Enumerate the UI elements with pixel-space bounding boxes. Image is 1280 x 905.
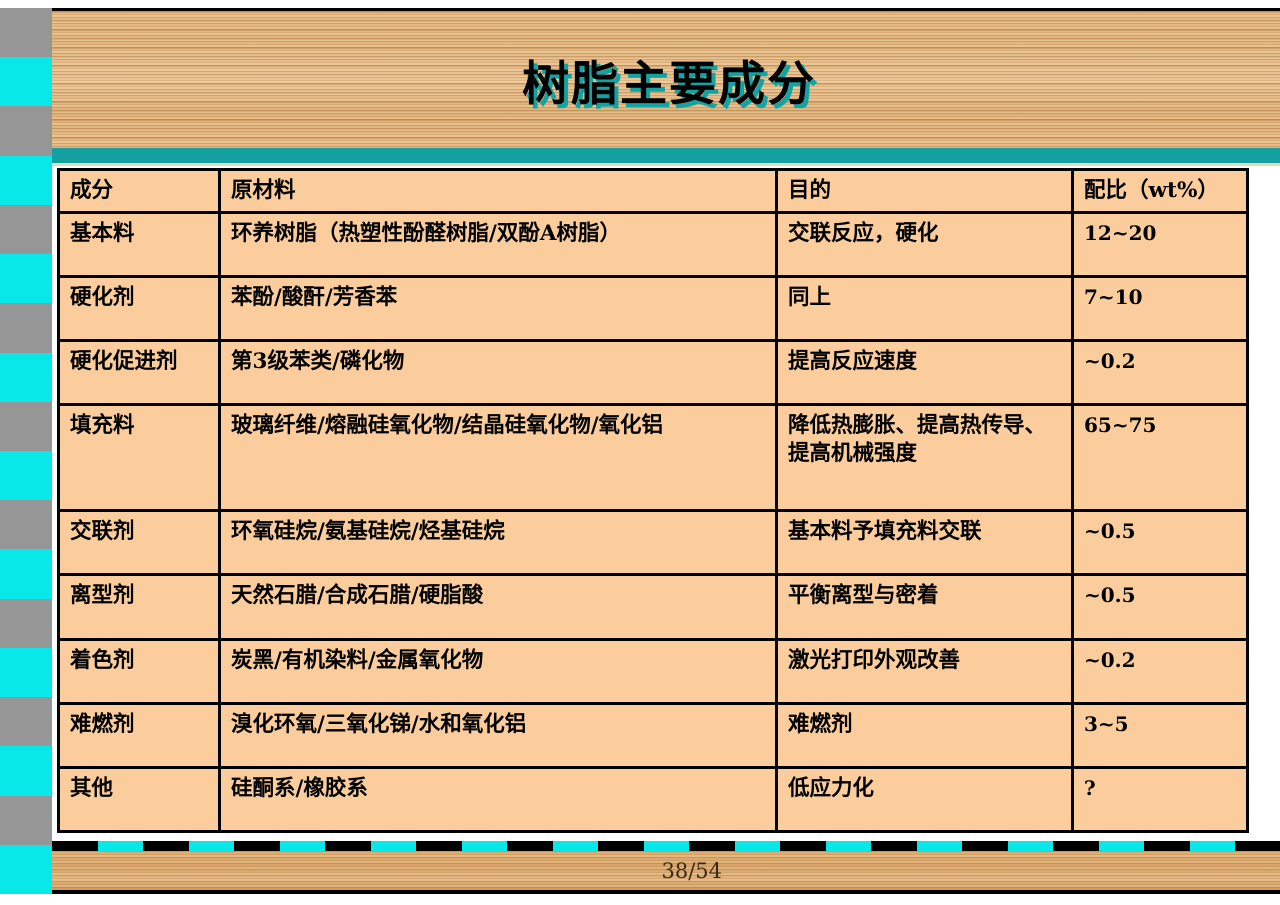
- sidebar-block-gray-6: [0, 303, 52, 352]
- footer-dash-cyan-21: [1008, 841, 1054, 851]
- footer-dash-cyan-17: [826, 841, 872, 851]
- column-header-ratio: 配比（wt%）: [1073, 170, 1248, 213]
- cell-raw-material: 玻璃纤维/熔融硅氧化物/结晶硅氧化物/氧化铝: [220, 405, 777, 511]
- cell-purpose: 同上: [777, 277, 1073, 341]
- footer-dash-black-26: [1235, 841, 1280, 851]
- sidebar-block-cyan-13: [0, 648, 52, 697]
- footer-dash-black-6: [325, 841, 371, 851]
- sidebar-block-gray-10: [0, 500, 52, 549]
- composition-table-container: 成分 原材料 目的 配比（wt%） 基本料环养树脂（热塑性酚醛树脂/双酚A树脂）…: [57, 168, 1246, 833]
- footer-dash-black-18: [871, 841, 917, 851]
- table-row: 难燃剂溴化环氧/三氧化锑/水和氧化铝难燃剂3~5: [59, 703, 1248, 767]
- cell-raw-material: 溴化环氧/三氧化锑/水和氧化铝: [220, 703, 777, 767]
- footer-dash-black-16: [780, 841, 826, 851]
- table-row: 离型剂天然石腊/合成石腊/硬脂酸平衡离型与密着~0.5: [59, 575, 1248, 639]
- page-title-text: 树脂主要成分: [516, 45, 816, 114]
- cell-component: 填充料: [59, 405, 220, 511]
- decorative-sidebar: [0, 8, 52, 894]
- cell-component: 其他: [59, 767, 220, 831]
- footer-dash-cyan-13: [644, 841, 690, 851]
- cell-raw-material: 硅酮系/橡胶系: [220, 767, 777, 831]
- cell-component: 基本料: [59, 212, 220, 276]
- cell-purpose: 低应力化: [777, 767, 1073, 831]
- footer-dash-black-8: [416, 841, 462, 851]
- cell-ratio: ~0.2: [1073, 639, 1248, 703]
- cell-component: 着色剂: [59, 639, 220, 703]
- footer-dash-black-12: [598, 841, 644, 851]
- slide-header-wood-banner: 树脂主要成分: [52, 8, 1280, 148]
- sidebar-block-gray-8: [0, 402, 52, 451]
- footer-dash-black-14: [689, 841, 735, 851]
- page-number: 38/54: [661, 859, 722, 883]
- cell-component: 离型剂: [59, 575, 220, 639]
- sidebar-block-cyan-9: [0, 451, 52, 500]
- footer-dash-cyan-7: [371, 841, 417, 851]
- table-row: 其他硅酮系/橡胶系低应力化?: [59, 767, 1248, 831]
- footer-dash-black-20: [962, 841, 1008, 851]
- page-title: 树脂主要成分: [52, 11, 1280, 148]
- table-row: 着色剂炭黑/有机染料/金属氧化物激光打印外观改善~0.2: [59, 639, 1248, 703]
- cell-raw-material: 天然石腊/合成石腊/硬脂酸: [220, 575, 777, 639]
- cell-ratio: 12~20: [1073, 212, 1248, 276]
- cell-component: 交联剂: [59, 511, 220, 575]
- cell-raw-material: 炭黑/有机染料/金属氧化物: [220, 639, 777, 703]
- sidebar-block-gray-16: [0, 796, 52, 845]
- cell-raw-material: 第3级苯类/磷化物: [220, 341, 777, 405]
- sidebar-block-cyan-3: [0, 156, 52, 205]
- table-row: 硬化促进剂第3级苯类/磷化物提高反应速度~0.2: [59, 341, 1248, 405]
- cell-component: 难燃剂: [59, 703, 220, 767]
- cell-purpose: 难燃剂: [777, 703, 1073, 767]
- footer-dash-black-10: [507, 841, 553, 851]
- cell-ratio: 7~10: [1073, 277, 1248, 341]
- footer-dash-cyan-15: [735, 841, 781, 851]
- footer-dash-cyan-9: [462, 841, 508, 851]
- footer-dash-cyan-3: [189, 841, 235, 851]
- sidebar-block-gray-2: [0, 106, 52, 155]
- footer-dash-cyan-5: [280, 841, 326, 851]
- cell-raw-material: 环养树脂（热塑性酚醛树脂/双酚A树脂）: [220, 212, 777, 276]
- footer-dash-cyan-11: [553, 841, 599, 851]
- sidebar-block-cyan-1: [0, 57, 52, 106]
- sidebar-block-cyan-5: [0, 254, 52, 303]
- cell-ratio: ?: [1073, 767, 1248, 831]
- footer-dash-black-0: [52, 841, 98, 851]
- column-header-raw-material: 原材料: [220, 170, 777, 213]
- footer-dash-cyan-1: [98, 841, 144, 851]
- footer-dash-cyan-25: [1190, 841, 1236, 851]
- cell-ratio: 65~75: [1073, 405, 1248, 511]
- footer-dash-cyan-23: [1099, 841, 1145, 851]
- footer-dash-black-4: [234, 841, 280, 851]
- cell-purpose: 平衡离型与密着: [777, 575, 1073, 639]
- cell-purpose: 降低热膨胀、提高热传导、提高机械强度: [777, 405, 1073, 511]
- sidebar-block-gray-14: [0, 697, 52, 746]
- sidebar-block-gray-0: [0, 8, 52, 57]
- column-header-purpose: 目的: [777, 170, 1073, 213]
- table-row: 硬化剂苯酚/酸酐/芳香苯同上7~10: [59, 277, 1248, 341]
- table-row: 基本料环养树脂（热塑性酚醛树脂/双酚A树脂）交联反应，硬化12~20: [59, 212, 1248, 276]
- table-row: 交联剂环氧硅烷/氨基硅烷/烃基硅烷基本料予填充料交联~0.5: [59, 511, 1248, 575]
- cell-purpose: 基本料予填充料交联: [777, 511, 1073, 575]
- sidebar-block-gray-12: [0, 599, 52, 648]
- table-header-row: 成分 原材料 目的 配比（wt%）: [59, 170, 1248, 213]
- slide-canvas: 树脂主要成分 成分 原材料 目的 配比（wt%） 基本料环养树脂（热塑性酚醛树脂…: [0, 0, 1280, 905]
- resin-composition-table: 成分 原材料 目的 配比（wt%） 基本料环养树脂（热塑性酚醛树脂/双酚A树脂）…: [57, 168, 1249, 833]
- table-body: 基本料环养树脂（热塑性酚醛树脂/双酚A树脂）交联反应，硬化12~20硬化剂苯酚/…: [59, 212, 1248, 831]
- sidebar-block-gray-4: [0, 205, 52, 254]
- cell-component: 硬化剂: [59, 277, 220, 341]
- cell-purpose: 提高反应速度: [777, 341, 1073, 405]
- sidebar-block-cyan-17: [0, 845, 52, 894]
- cell-purpose: 交联反应，硬化: [777, 212, 1073, 276]
- cell-raw-material: 苯酚/酸酐/芳香苯: [220, 277, 777, 341]
- sidebar-block-cyan-7: [0, 353, 52, 402]
- footer-dash-strip: [52, 841, 1280, 851]
- cell-component: 硬化促进剂: [59, 341, 220, 405]
- cell-ratio: 3~5: [1073, 703, 1248, 767]
- footer-dash-black-22: [1053, 841, 1099, 851]
- cell-ratio: ~0.5: [1073, 575, 1248, 639]
- column-header-component: 成分: [59, 170, 220, 213]
- footer-dash-black-24: [1144, 841, 1190, 851]
- sidebar-block-cyan-11: [0, 549, 52, 598]
- teal-divider-shadow: [52, 163, 1280, 166]
- footer-dash-black-2: [143, 841, 189, 851]
- cell-ratio: ~0.5: [1073, 511, 1248, 575]
- footer-dash-cyan-19: [917, 841, 963, 851]
- cell-raw-material: 环氧硅烷/氨基硅烷/烃基硅烷: [220, 511, 777, 575]
- teal-divider-band: [52, 148, 1280, 163]
- table-row: 填充料玻璃纤维/熔融硅氧化物/结晶硅氧化物/氧化铝降低热膨胀、提高热传导、提高机…: [59, 405, 1248, 511]
- cell-ratio: ~0.2: [1073, 341, 1248, 405]
- cell-purpose: 激光打印外观改善: [777, 639, 1073, 703]
- sidebar-block-cyan-15: [0, 746, 52, 795]
